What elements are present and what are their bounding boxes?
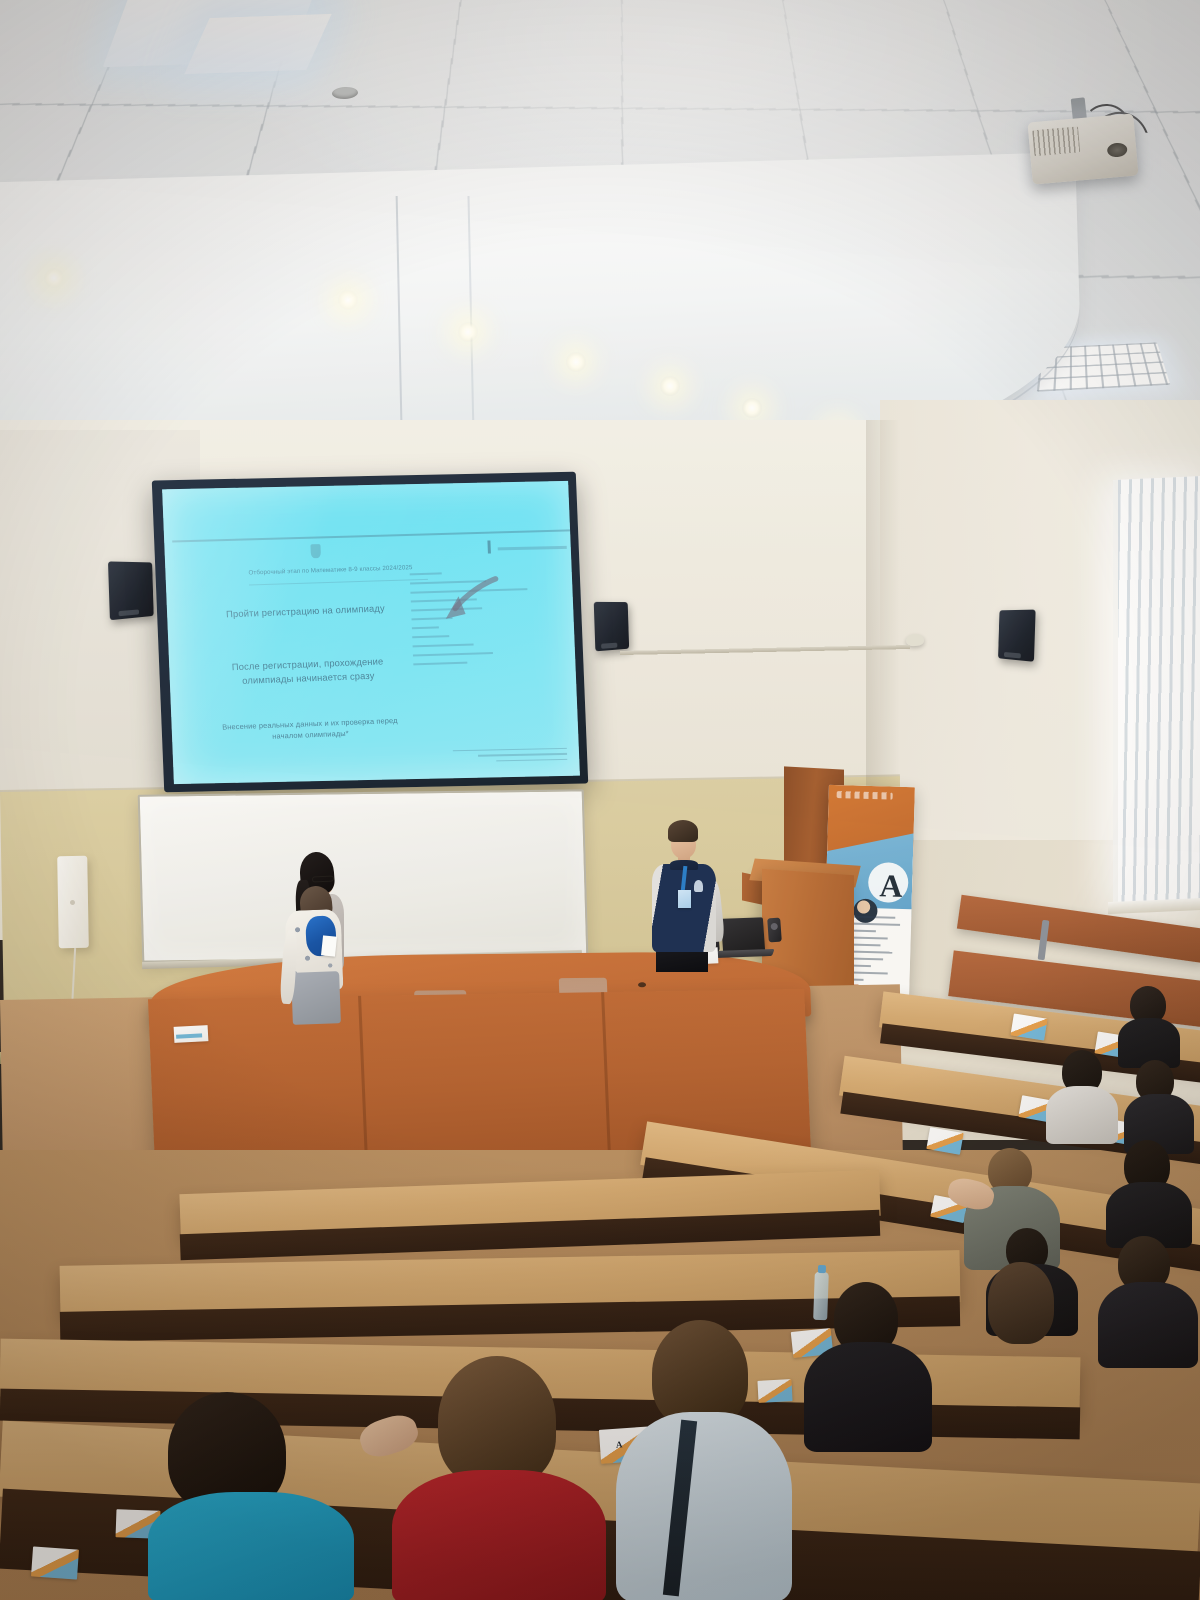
presenter-woman-front-skirt (291, 971, 341, 1025)
wall-speaker-icon (594, 602, 629, 651)
wall-speaker-icon (998, 610, 1036, 662)
jacket-emblem-icon (694, 880, 703, 892)
slide-message-1: Пройти регистрацию на олимпиаду (216, 601, 395, 621)
projector-icon (1027, 113, 1138, 184)
downlight-icon (44, 268, 64, 288)
wall-speaker-icon (108, 561, 154, 620)
banner-header-logos (837, 791, 893, 800)
wall-mounted-unit (57, 856, 89, 949)
presenter-badge (321, 935, 337, 956)
banner-logo-letter: A (876, 870, 907, 905)
presenter-laptop[interactable] (721, 917, 765, 952)
window (1113, 476, 1200, 910)
desk-papers (174, 1025, 209, 1043)
slide-subtitle-rule (249, 579, 428, 586)
slide-logo-right-icon (487, 540, 491, 553)
lecture-hall-photo: Отборочный этап по Математике 8-9 классы… (0, 0, 1200, 1600)
glasses-icon (312, 875, 334, 882)
downlight-icon (458, 322, 478, 342)
projection-screen[interactable]: Отборочный этап по Математике 8-9 классы… (152, 472, 589, 793)
whiteboard[interactable] (138, 789, 589, 962)
slide-footer (453, 748, 567, 767)
water-bottle[interactable] (813, 1272, 829, 1320)
slide-message-2: После регистрации, прохождение олимпиады… (209, 654, 405, 689)
slide-message-3: Внесение реальных данных и их проверка п… (216, 716, 404, 745)
vertical-blinds[interactable] (1118, 476, 1200, 910)
downlight-icon (338, 290, 358, 310)
bench-service-hole (638, 983, 646, 988)
slide-header-rule (172, 530, 570, 543)
slide-surface: Отборочный этап по Математике 8-9 классы… (162, 481, 580, 784)
presenter-man-hair (668, 820, 698, 842)
slide-title: Отборочный этап по Математике 8-9 классы… (249, 564, 413, 576)
slide-logo-left-icon (311, 544, 322, 558)
desk-speaker-icon (767, 918, 782, 943)
olympiad-flyer[interactable] (757, 1379, 792, 1403)
slide-logo-right-text (498, 546, 567, 550)
slide-arrow-icon (433, 573, 502, 631)
olympiad-flyer[interactable] (31, 1546, 79, 1579)
projector-grille (1032, 126, 1080, 156)
presenter-man-badge (678, 890, 691, 908)
downlight-icon (742, 398, 762, 418)
downlight-icon (660, 376, 680, 396)
downlight-icon (566, 352, 586, 372)
flyer-logo-letter: A (616, 1439, 623, 1449)
projector-lens-icon (1107, 142, 1128, 158)
